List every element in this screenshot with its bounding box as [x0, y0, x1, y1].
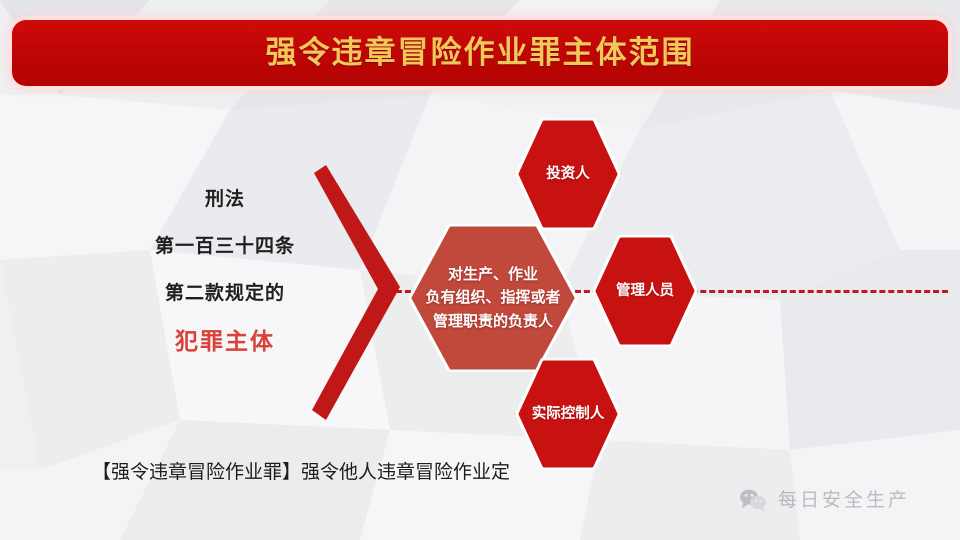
hexagon-center-line-2: 负有组织、指挥或者 [425, 286, 560, 309]
hexagon-actual-controller[interactable]: 实际控制人 [516, 358, 620, 470]
hexagon-management-personnel-label: 管理人员 [616, 280, 674, 302]
hexagon-management-personnel[interactable]: 管理人员 [593, 235, 697, 347]
left-text-block: 刑法 第一百三十四条 第二款规定的 犯罪主体 [110, 190, 340, 354]
hexagon-actual-controller-label: 实际控制人 [532, 403, 605, 425]
left-line-2: 第一百三十四条 [110, 237, 340, 256]
hexagon-center-line-3: 管理职责的负责人 [425, 310, 560, 333]
slide-canvas: 强令违章冒险作业罪主体范围 刑法 第一百三十四条 第二款规定的 犯罪主体 对生产… [0, 0, 960, 540]
footnote-caption: 【强令违章冒险作业罪】强令他人违章冒险作业定 [92, 463, 510, 482]
hexagon-center-line-1: 对生产、作业 [425, 263, 560, 286]
left-line-1: 刑法 [110, 190, 340, 209]
page-title: 强令违章冒险作业罪主体范围 [266, 38, 695, 69]
title-banner: 强令违章冒险作业罪主体范围 [12, 20, 948, 86]
left-line-emphasis: 犯罪主体 [110, 331, 340, 354]
wechat-icon [738, 488, 768, 512]
hexagon-investor-label: 投资人 [546, 163, 590, 185]
hexagon-investor[interactable]: 投资人 [516, 118, 620, 230]
hexagon-center-subject[interactable]: 对生产、作业 负有组织、指挥或者 管理职责的负责人 [409, 224, 577, 372]
hexagon-center-label: 对生产、作业 负有组织、指挥或者 管理职责的负责人 [425, 263, 560, 333]
watermark-text: 每日安全生产 [778, 491, 910, 510]
left-line-3: 第二款规定的 [110, 284, 340, 303]
watermark: 每日安全生产 [738, 488, 910, 512]
